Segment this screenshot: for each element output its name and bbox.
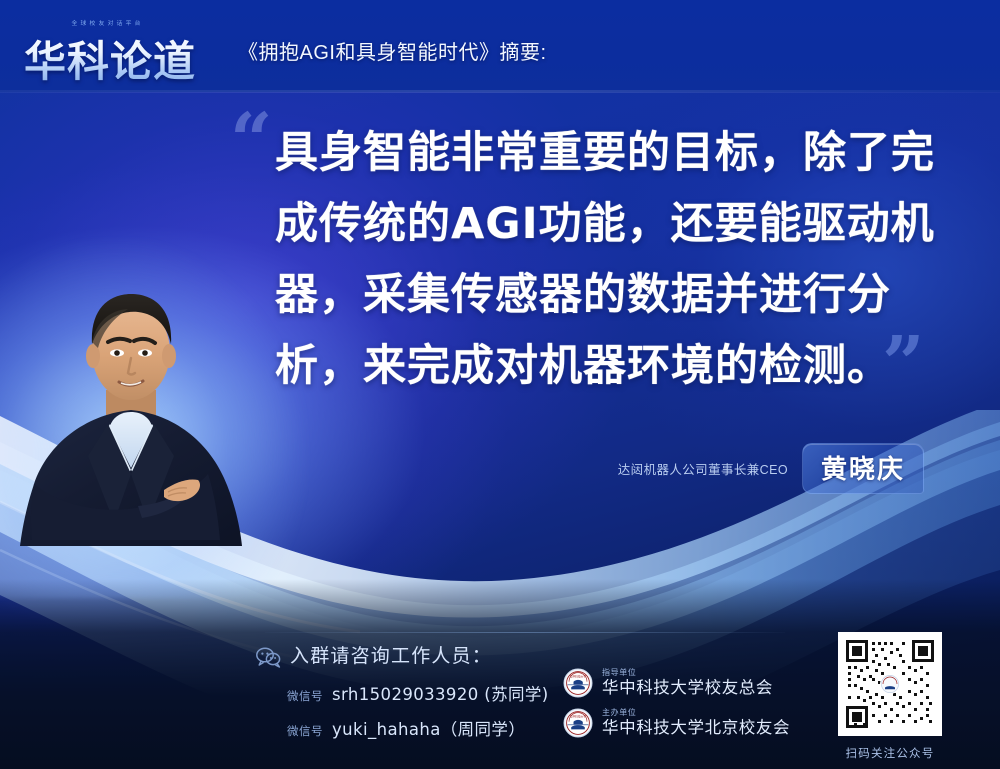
- wechat-icon: [256, 646, 282, 668]
- hust-alumni-seal-icon: 华中科技大学: [563, 668, 593, 698]
- quote-line: 成传统的AGI功能，还要能驱动机: [275, 189, 940, 260]
- qr-block: 扫码关注公众号: [838, 632, 942, 761]
- hust-alumni-seal-icon: 华中科技大学: [563, 708, 593, 738]
- contact-label: 微信号: [287, 688, 323, 704]
- organization-text: 主办单位 华中科技大学北京校友会: [602, 709, 790, 737]
- brand-tagline: 全球校友对话平台: [72, 18, 144, 27]
- quote-line: 具身智能非常重要的目标，除了完: [275, 118, 940, 189]
- qr-code-image[interactable]: [838, 632, 942, 736]
- organization-kicker: 主办单位: [602, 709, 790, 717]
- organization-name: 华中科技大学校友总会: [602, 680, 773, 697]
- speaker-portrait-container: [18, 278, 244, 546]
- speaker-portrait: [18, 278, 244, 546]
- speaker-name: 黄晓庆: [821, 449, 905, 486]
- footer-divider: [265, 632, 785, 633]
- qr-caption: 扫码关注公众号: [838, 745, 942, 761]
- quote-line: 器，采集传感器的数据并进行分: [275, 260, 940, 331]
- contact-row: 微信号 yuki_hahaha（周同学）: [287, 716, 525, 740]
- poster-header: 全球校友对话平台 华科论道 《拥抱AGI和具身智能时代》摘要:: [0, 0, 1000, 92]
- brand-logo-text: 华科论道: [24, 28, 196, 89]
- organization-text: 指导单位 华中科技大学校友总会: [602, 669, 773, 697]
- quote-close-mark: ”: [882, 327, 923, 401]
- quote-open-mark: “: [230, 104, 271, 178]
- organization-row: 华中科技大学 主办单位 华中科技大学北京校友会: [563, 708, 790, 738]
- svg-text:华中科技大学: 华中科技大学: [570, 714, 586, 718]
- contact-value[interactable]: yuki_hahaha（周同学）: [332, 716, 525, 740]
- quote-line: 析，来完成对机器环境的检测。: [275, 331, 940, 402]
- contact-row: 微信号 srh15029033920 (苏同学): [287, 681, 549, 705]
- speaker-role: 达闼机器人公司董事长兼CEO: [618, 459, 788, 478]
- quote-text-block: 具身智能非常重要的目标，除了完 成传统的AGI功能，还要能驱动机 器，采集传感器…: [275, 118, 940, 402]
- brand-logo: 全球校友对话平台 华科论道: [24, 14, 220, 78]
- contact-value[interactable]: srh15029033920 (苏同学): [332, 681, 549, 705]
- organization-name: 华中科技大学北京校友会: [602, 720, 790, 737]
- poster-canvas: 全球校友对话平台 华科论道 《拥抱AGI和具身智能时代》摘要:: [0, 0, 1000, 769]
- speaker-name-chip: 黄晓庆: [802, 443, 924, 494]
- organization-row: 华中科技大学 指导单位 华中科技大学校友总会: [563, 668, 773, 698]
- footer-heading: 入群请咨询工作人员：: [290, 641, 492, 668]
- contact-label: 微信号: [287, 723, 323, 739]
- svg-text:华中科技大学: 华中科技大学: [570, 674, 586, 678]
- page-title: 《拥抱AGI和具身智能时代》摘要:: [238, 36, 547, 65]
- attribution: 达闼机器人公司董事长兼CEO 黄晓庆: [618, 443, 924, 494]
- organization-kicker: 指导单位: [602, 669, 773, 677]
